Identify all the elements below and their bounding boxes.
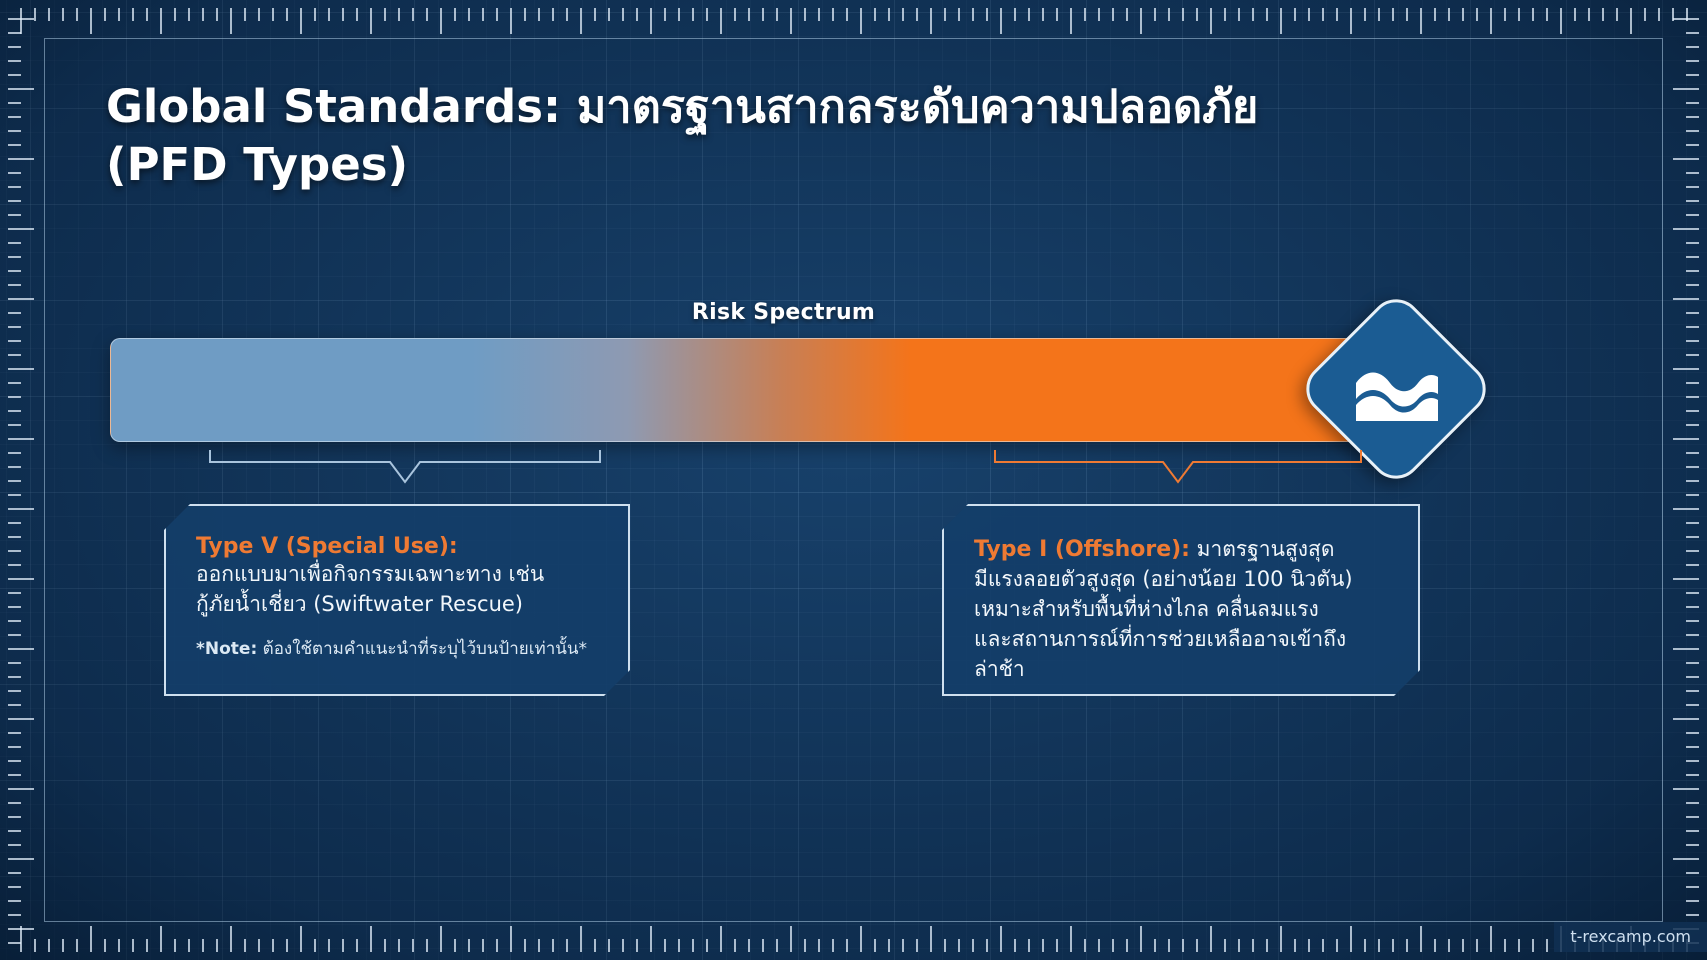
slide-canvas: Global Standards: มาตรฐานสากลระดับความปล… xyxy=(0,0,1707,960)
title-thai: มาตรฐานสากลระดับความปลอดภัย xyxy=(561,80,1258,133)
callout-right-heading: Type I (Offshore): xyxy=(974,537,1190,562)
risk-spectrum-label: Risk Spectrum xyxy=(0,300,1707,325)
callout-left-heading-row: Type V (Special Use): xyxy=(196,534,598,559)
title-line-2: (PFD Types) xyxy=(106,136,1506,194)
callout-right-line-3: เหมาะสำหรับพื้นที่ห่างไกล คลื่นลมแรง xyxy=(974,594,1388,624)
callout-left-line-2: กู้ภัยน้ำเชี่ยว (Swiftwater Rescue) xyxy=(196,589,598,619)
page-title: Global Standards: มาตรฐานสากลระดับความปล… xyxy=(106,78,1506,194)
callout-left-heading: Type V (Special Use): xyxy=(196,534,458,559)
callout-right-heading-row: Type I (Offshore): มาตรฐานสูงสุด xyxy=(974,534,1388,564)
title-line-1: Global Standards: มาตรฐานสากลระดับความปล… xyxy=(106,78,1506,136)
callout-right-line-4: และสถานการณ์ที่การช่วยเหลืออาจเข้าถึงล่า… xyxy=(974,624,1388,684)
callout-left-note: *Note: ต้องใช้ตามคำแนะนำที่ระบุไว้บนป้าย… xyxy=(196,635,598,662)
callout-left-note-label: *Note: xyxy=(196,639,257,659)
wave-icon xyxy=(1352,357,1440,421)
risk-spectrum-bar xyxy=(110,338,1402,442)
callout-right-line-1: มาตรฐานสูงสุด xyxy=(1190,537,1335,561)
callout-left-line-1: ออกแบบมาเพื่อกิจกรรมเฉพาะทาง เช่น xyxy=(196,559,598,589)
watermark: t-rexcamp.com xyxy=(1554,922,1707,952)
callout-left-note-text: ต้องใช้ตามคำแนะนำที่ระบุไว้บนป้ายเท่านั้… xyxy=(257,639,587,659)
title-english: Global Standards: xyxy=(106,80,561,133)
callout-right-line-2: มีแรงลอยตัวสูงสุด (อย่างน้อย 100 นิวตัน) xyxy=(974,564,1388,594)
callout-type-v: Type V (Special Use): ออกแบบมาเพื่อกิจกร… xyxy=(164,504,630,696)
callout-type-i: Type I (Offshore): มาตรฐานสูงสุด มีแรงลอ… xyxy=(942,504,1420,696)
